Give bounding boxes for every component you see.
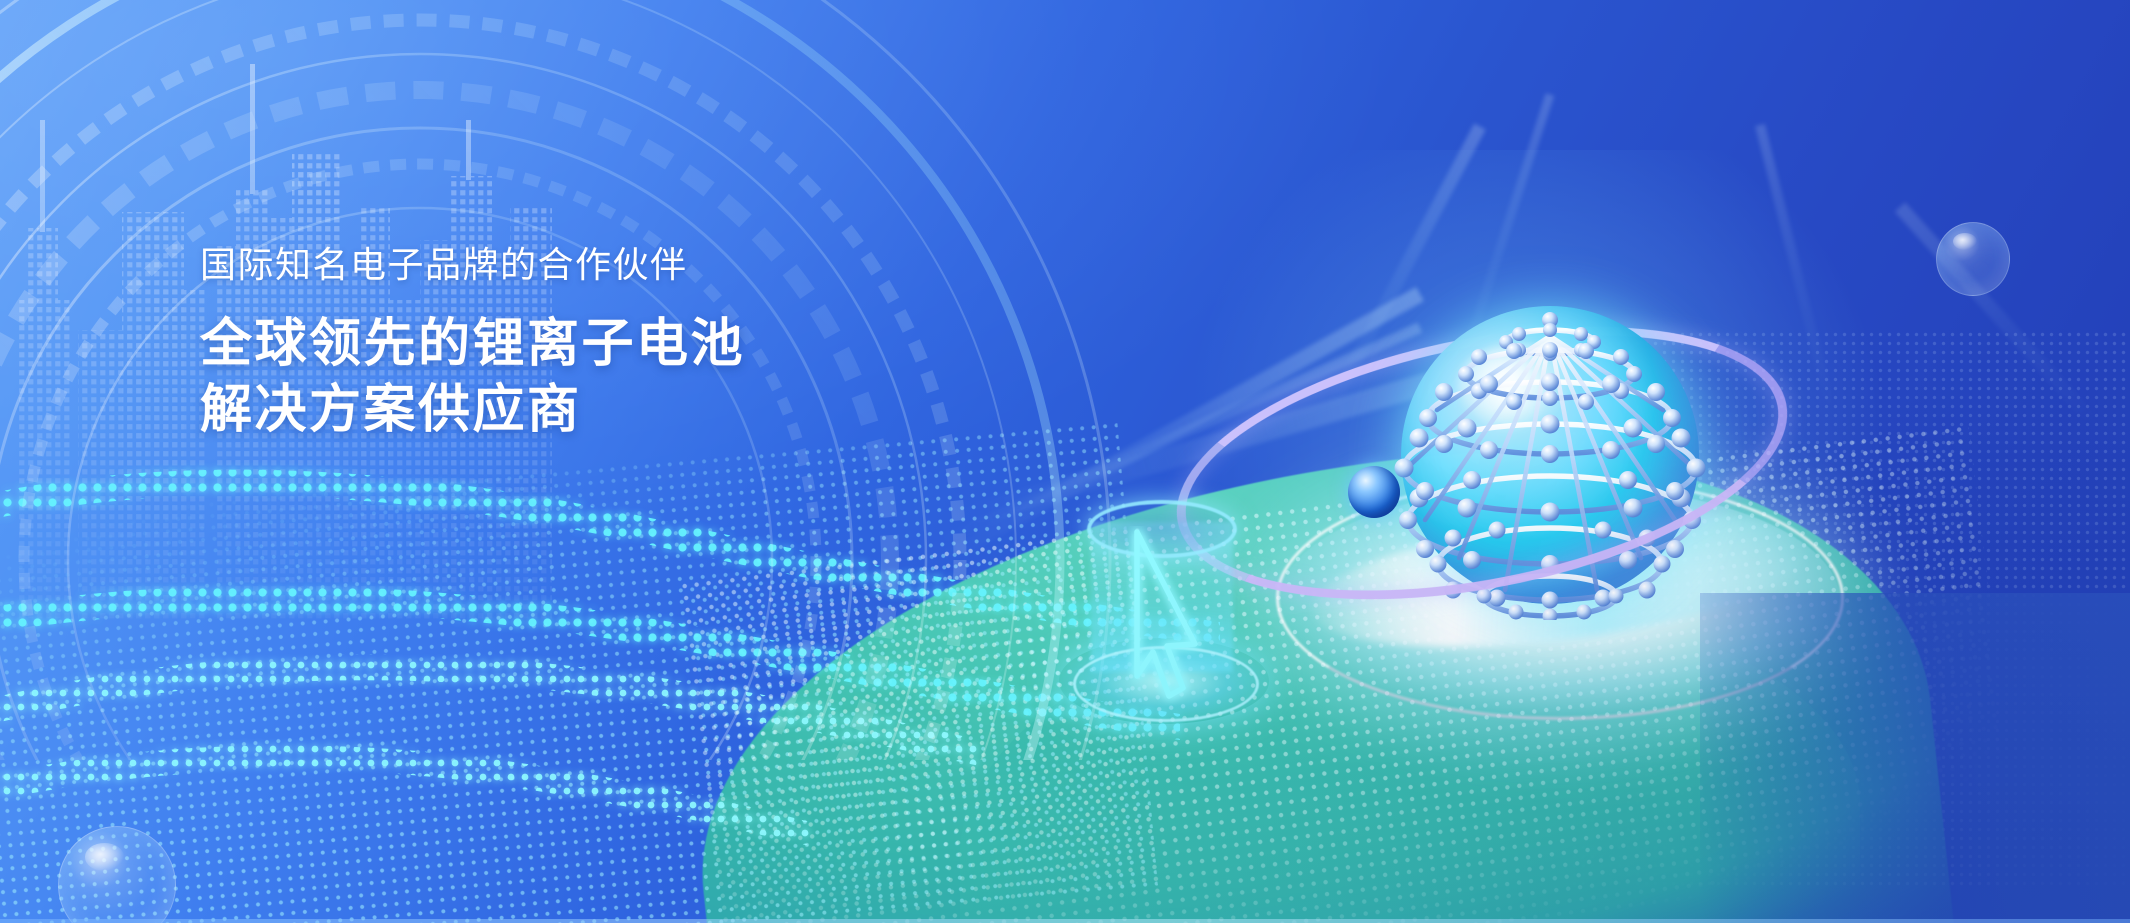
hero-banner: 国际知名电子品牌的合作伙伴 全球领先的锂离子电池 解决方案供应商 xyxy=(0,0,2130,923)
bottom-edge-highlight xyxy=(0,919,2130,923)
vignette-overlay xyxy=(0,0,2130,923)
